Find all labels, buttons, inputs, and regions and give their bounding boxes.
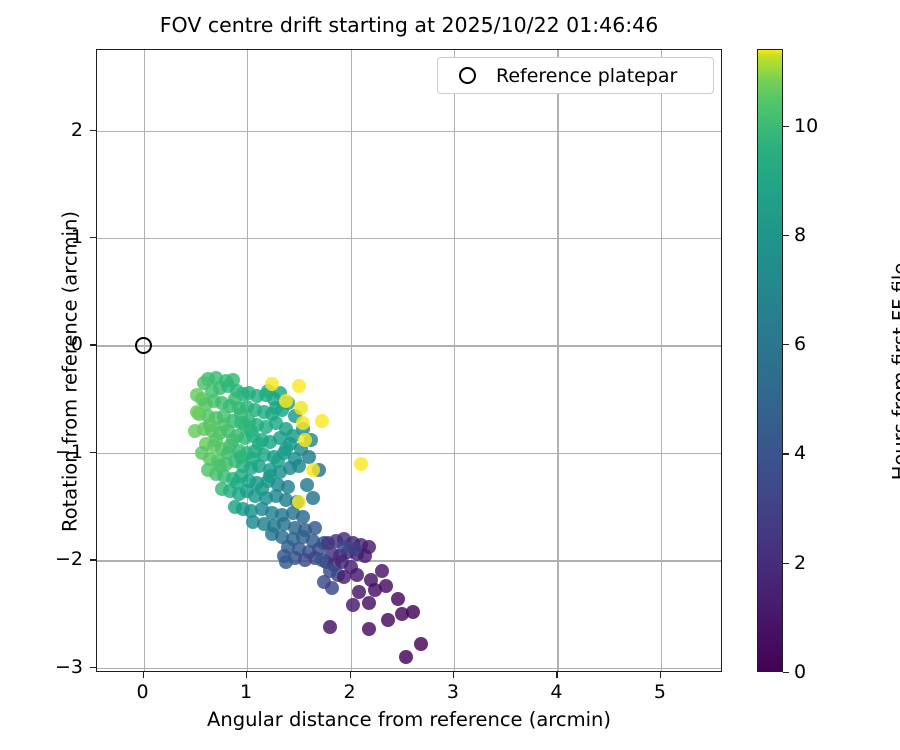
gridline-vertical (661, 50, 662, 671)
legend-label: Reference platepar (496, 65, 677, 87)
gridline-horizontal (97, 453, 721, 454)
scatter-point (354, 457, 368, 471)
y-tick-label: 2 (1, 119, 83, 141)
colorbar-gradient (757, 49, 783, 672)
x-tick (660, 672, 661, 678)
scatter-point (195, 446, 209, 460)
x-tick (556, 672, 557, 678)
colorbar-tick (783, 126, 789, 127)
scatter-point (228, 392, 242, 406)
scatter-point (302, 450, 316, 464)
gridline-horizontal (97, 560, 721, 561)
scatter-point (226, 433, 240, 447)
x-tick (453, 672, 454, 678)
scatter-point (279, 555, 293, 569)
scatter-point (294, 401, 308, 415)
scatter-point (306, 491, 320, 505)
scatter-point (230, 476, 244, 490)
scatter-point (325, 581, 339, 595)
y-tick (90, 130, 96, 131)
scatter-point (346, 598, 360, 612)
scatter-point (188, 424, 202, 438)
colorbar-tick-label: 4 (794, 442, 806, 464)
plot-area (96, 49, 722, 672)
colorbar-tick (783, 453, 789, 454)
colorbar-tick-label: 0 (794, 661, 806, 683)
x-tick-label: 5 (654, 681, 666, 703)
x-tick (143, 672, 144, 678)
scatter-point (292, 495, 306, 509)
scatter-point (350, 568, 364, 582)
x-tick-label: 3 (447, 681, 459, 703)
scatter-point (281, 480, 295, 494)
scatter-point (238, 418, 252, 432)
y-tick (90, 667, 96, 668)
colorbar-tick-label: 2 (794, 552, 806, 574)
scatter-point (414, 637, 428, 651)
scatter-point (323, 620, 337, 634)
scatter-point (362, 622, 376, 636)
gridline-vertical (144, 50, 145, 671)
y-tick-label: −3 (1, 656, 83, 678)
colorbar-tick (783, 672, 789, 673)
gridline-horizontal (97, 668, 721, 669)
scatter-point (391, 592, 405, 606)
scatter-point (255, 482, 269, 496)
chart-title: FOV centre drift starting at 2025/10/22 … (96, 13, 722, 37)
gridline-vertical (557, 50, 558, 671)
reference-platepar-marker (135, 337, 152, 354)
open-circle-icon (459, 67, 476, 84)
x-tick-label: 4 (550, 681, 562, 703)
colorbar-tick-label: 8 (794, 224, 806, 246)
colorbar-tick-label: 6 (794, 333, 806, 355)
x-tick-label: 2 (343, 681, 355, 703)
colorbar-tick-label: 10 (794, 115, 818, 137)
y-tick-label: −2 (1, 548, 83, 570)
x-tick (246, 672, 247, 678)
gridline-horizontal (97, 131, 721, 132)
y-tick (90, 237, 96, 238)
scatter-point (209, 433, 223, 447)
scatter-point (300, 478, 314, 492)
gridline-vertical (247, 50, 248, 671)
scatter-point (381, 613, 395, 627)
gridline-vertical (454, 50, 455, 671)
legend-marker-wrap (438, 67, 496, 84)
colorbar-tick (783, 563, 789, 564)
scatter-point (315, 414, 329, 428)
gridline-horizontal (97, 238, 721, 239)
scatter-point (399, 650, 413, 664)
x-axis-label: Angular distance from reference (arcmin) (96, 708, 722, 731)
y-tick (90, 452, 96, 453)
gridline-horizontal (97, 345, 721, 346)
y-tick (90, 344, 96, 345)
y-tick (90, 559, 96, 560)
scatter-point (298, 433, 312, 447)
scatter-point (296, 416, 310, 430)
x-tick (350, 672, 351, 678)
scatter-point (292, 379, 306, 393)
scatter-point (279, 442, 293, 456)
scatter-point (406, 605, 420, 619)
scatter-point (213, 459, 227, 473)
figure-canvas: FOV centre drift starting at 2025/10/22 … (0, 0, 900, 750)
scatter-point (265, 377, 279, 391)
x-tick-label: 0 (137, 681, 149, 703)
scatter-point (203, 418, 217, 432)
colorbar-label: Hours from first FF file (889, 172, 900, 572)
legend: Reference platepar (437, 57, 714, 94)
scatter-point (362, 596, 376, 610)
x-tick-label: 1 (240, 681, 252, 703)
scatter-point (308, 521, 322, 535)
colorbar-tick (783, 344, 789, 345)
y-axis-label: Rotation from reference (arcmin) (59, 202, 82, 542)
scatter-point (375, 564, 389, 578)
scatter-point (379, 579, 393, 593)
colorbar: 0246810 (757, 49, 783, 672)
colorbar-tick (783, 235, 789, 236)
